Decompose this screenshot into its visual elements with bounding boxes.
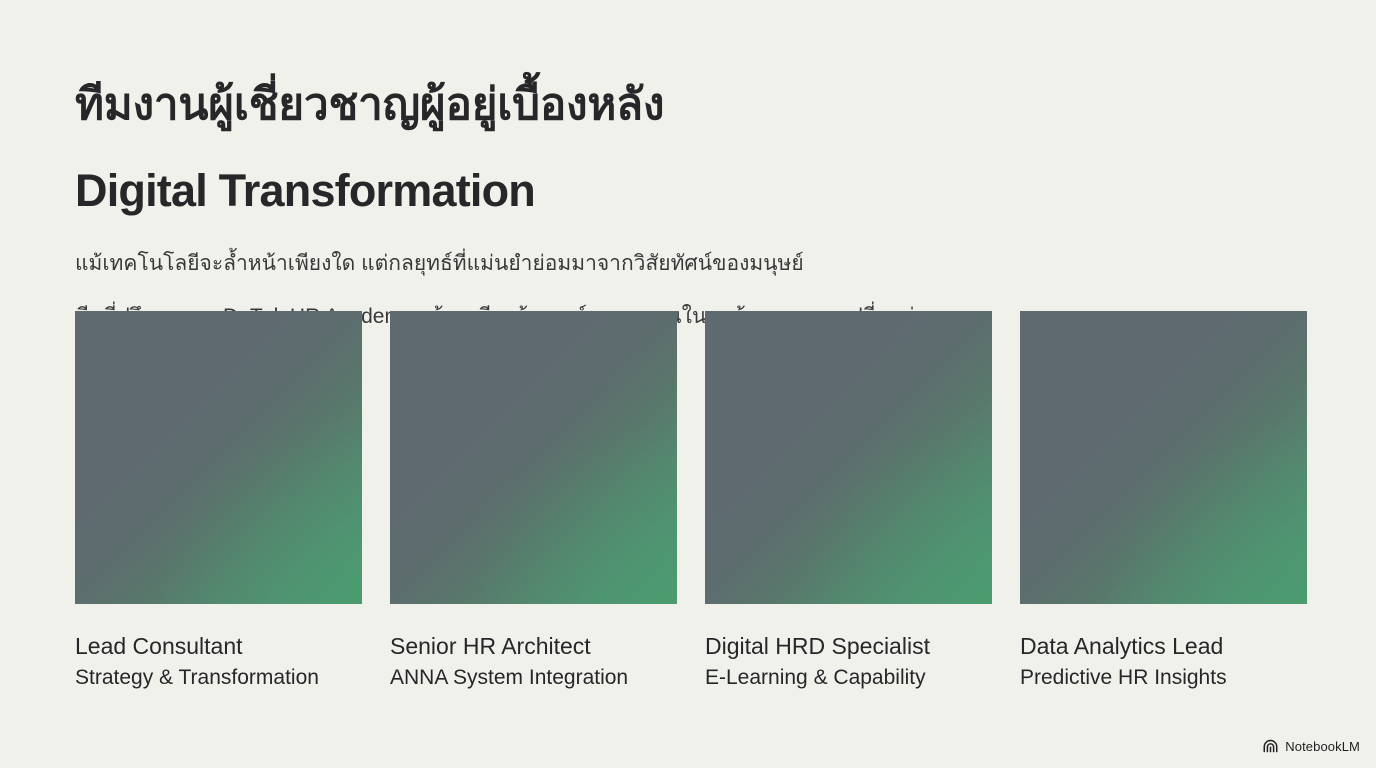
team-member-focus: E-Learning & Capability [705,665,992,691]
notebooklm-spiral-icon [1262,738,1279,755]
team-card[interactable]: Lead Consultant Strategy & Transformatio… [75,311,362,691]
team-member-role: Digital HRD Specialist [705,632,992,660]
team-card[interactable]: Digital HRD Specialist E-Learning & Capa… [705,311,992,691]
team-card-caption: Digital HRD Specialist E-Learning & Capa… [705,604,992,691]
notebooklm-watermark: NotebookLM [1262,738,1360,755]
team-member-photo [75,311,362,604]
header: ทีมงานผู้เชี่ยวชาญผู้อยู่เบื้องหลัง Digi… [75,48,1305,354]
team-member-photo [1020,311,1307,604]
notebooklm-label: NotebookLM [1285,740,1360,753]
team-card-caption: Senior HR Architect ANNA System Integrat… [390,604,677,691]
team-card-caption: Data Analytics Lead Predictive HR Insigh… [1020,604,1307,691]
team-card[interactable]: Senior HR Architect ANNA System Integrat… [390,311,677,691]
team-member-focus: Predictive HR Insights [1020,665,1307,691]
team-member-role: Senior HR Architect [390,632,677,660]
team-member-photo [390,311,677,604]
team-card-caption: Lead Consultant Strategy & Transformatio… [75,604,362,691]
team-member-role: Lead Consultant [75,632,362,660]
page-title-latin: Digital Transformation [75,164,1305,218]
team-card-grid: Lead Consultant Strategy & Transformatio… [75,311,1302,691]
team-member-focus: ANNA System Integration [390,665,677,691]
team-card[interactable]: Data Analytics Lead Predictive HR Insigh… [1020,311,1307,691]
slide-canvas: ทีมงานผู้เชี่ยวชาญผู้อยู่เบื้องหลัง Digi… [0,0,1376,768]
subtitle-line-1: แม้เทคโนโลยีจะล้ำหน้าเพียงใด แต่กลยุทธ์ท… [75,248,1305,280]
team-member-focus: Strategy & Transformation [75,665,362,691]
page-title-thai: ทีมงานผู้เชี่ยวชาญผู้อยู่เบื้องหลัง [75,77,1305,133]
team-member-photo [705,311,992,604]
team-member-role: Data Analytics Lead [1020,632,1307,660]
